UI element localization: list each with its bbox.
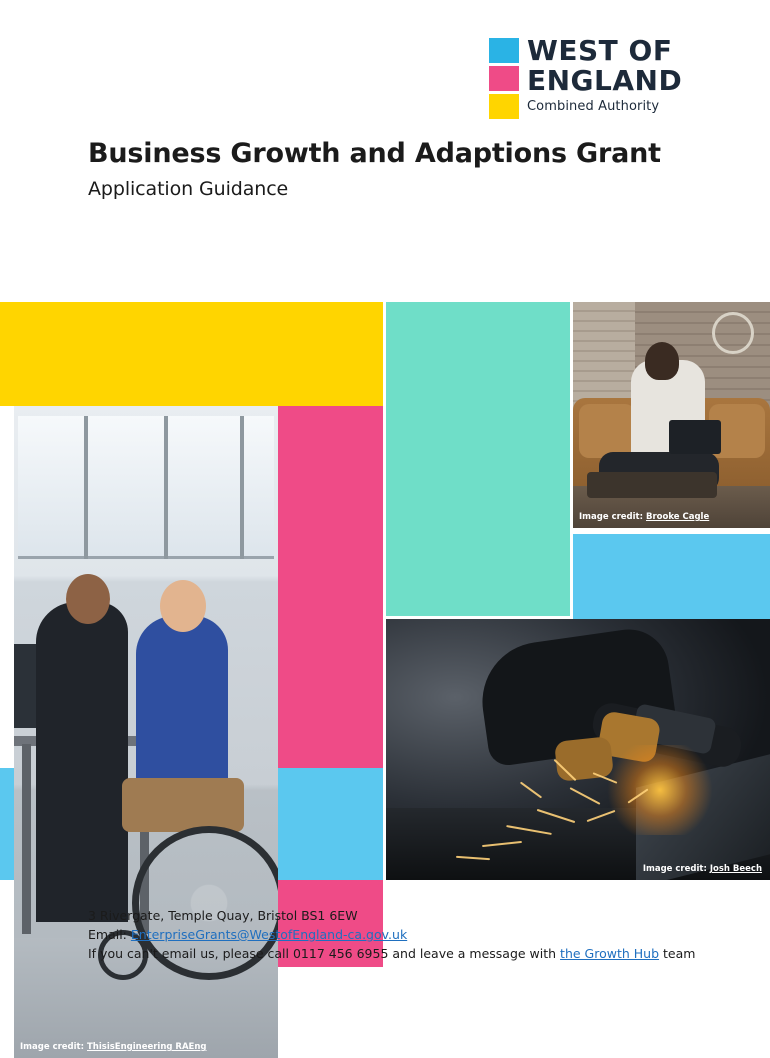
logo-swatch-pink (489, 66, 519, 91)
logo-line-2: ENGLAND (527, 66, 687, 96)
logo-line-1: WEST OF (527, 36, 687, 66)
photo-sofa-artwork (573, 302, 770, 528)
office-window-mullion (240, 416, 244, 559)
photo-metalworker-sparks: Image credit: Josh Beech (386, 619, 770, 880)
logo-swatch-yellow (489, 94, 519, 119)
image-credit-prefix: Image credit: (579, 512, 643, 522)
logo-swatch-cyan (489, 38, 519, 63)
footer-growth-hub-link[interactable]: the Growth Hub (560, 946, 659, 961)
west-of-england-logo: WEST OF ENGLAND Combined Authority (489, 38, 685, 120)
office-desk-leg (22, 744, 31, 934)
office-person-standing (36, 602, 128, 922)
image-credit-prefix: Image credit: (20, 1042, 84, 1052)
office-person-standing-head (66, 574, 110, 624)
sofa-person-head (645, 342, 679, 380)
color-block-yellow (0, 302, 383, 406)
photo-welder-artwork (386, 619, 770, 880)
image-credit-name: Josh Beech (710, 864, 762, 874)
footer-email-line: Email: EnterpriseGrants@WestofEngland-ca… (88, 925, 708, 944)
image-credit-name: ThisisEngineering RAEng (87, 1042, 207, 1052)
sofa-wall-lamp (712, 312, 754, 354)
footer-phone-line: If you can't email us, please call 0117 … (88, 944, 708, 963)
office-window (18, 416, 274, 559)
photo-woman-with-laptop: Image credit: Brooke Cagle (573, 302, 770, 528)
footer-contact-block: 3 Rivergate, Temple Quay, Bristol BS1 6E… (88, 906, 708, 963)
office-person-seated-head (160, 580, 206, 632)
footer-phone-text-after: team (659, 946, 695, 961)
footer-email-link[interactable]: EnterpriseGrants@WestofEngland-ca.gov.uk (131, 927, 407, 942)
page-title: Business Growth and Adaptions Grant (88, 138, 661, 169)
image-credit-sofa: Image credit: Brooke Cagle (579, 512, 709, 522)
sofa-coffee-table (587, 472, 717, 498)
color-block-pink (278, 406, 383, 967)
logo-wordmark: WEST OF ENGLAND Combined Authority (527, 36, 687, 116)
image-credit-wheelchair: Image credit: ThisisEngineering RAEng (20, 1042, 207, 1052)
footer-address: 3 Rivergate, Temple Quay, Bristol BS1 6E… (88, 906, 708, 925)
logo-line-3: Combined Authority (527, 98, 687, 116)
color-block-mint (386, 302, 570, 616)
image-credit-welder: Image credit: Josh Beech (643, 864, 762, 874)
logo-swatches (489, 38, 519, 120)
sofa-cushion (579, 404, 635, 458)
office-window-mullion (164, 416, 168, 559)
cover-image-collage: Image credit: ThisisEngineering RAEng Im… (0, 302, 770, 880)
color-block-cyan-right (573, 534, 770, 619)
office-person-seated-legs (122, 778, 244, 832)
page-subtitle: Application Guidance (88, 178, 288, 200)
footer-phone-text-before: If you can't email us, please call 0117 … (88, 946, 560, 961)
sofa-laptop (669, 420, 721, 454)
image-credit-name: Brooke Cagle (646, 512, 709, 522)
footer-email-label: Email: (88, 927, 127, 942)
spark-glow (600, 745, 720, 835)
image-credit-prefix: Image credit: (643, 864, 707, 874)
office-person-seated (136, 616, 228, 786)
office-window-mullion (84, 416, 88, 559)
